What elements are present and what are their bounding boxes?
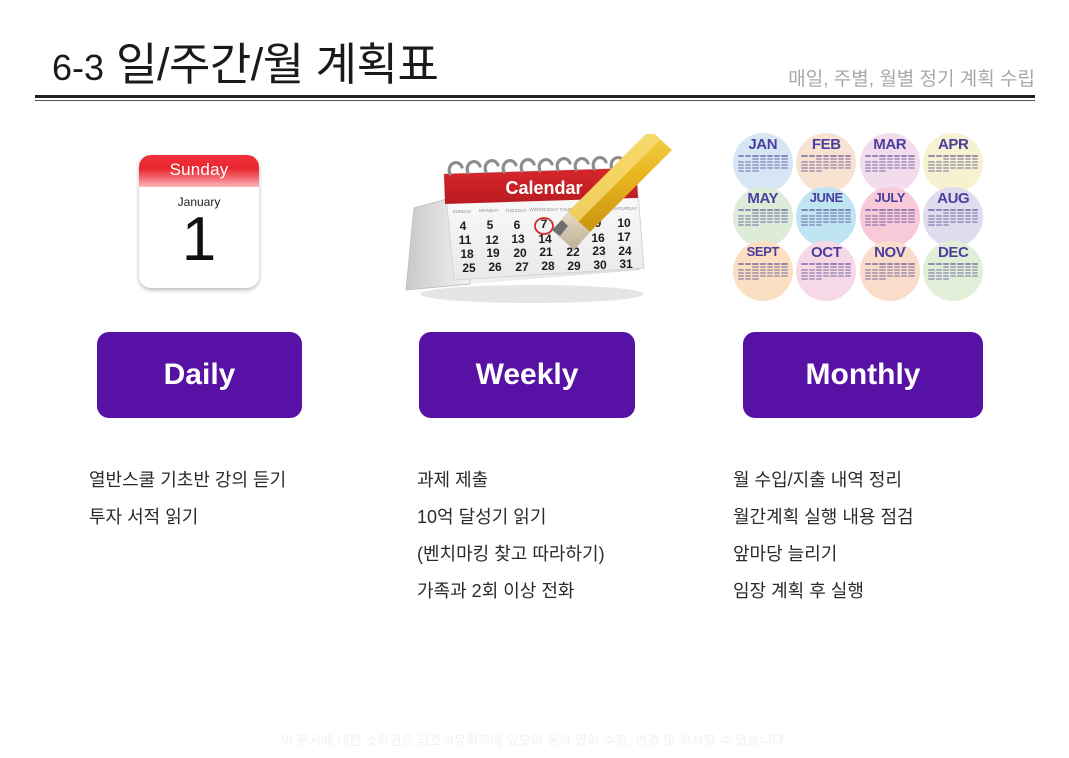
task-list-monthly: 월 수입/지출 내역 정리월간계획 실행 내용 점검앞마당 늘리기임장 계획 후…: [733, 462, 914, 610]
desk-calendar-title: Calendar: [505, 178, 582, 198]
svg-text:SATURDAY: SATURDAY: [613, 206, 637, 211]
svg-text:21: 21: [539, 245, 553, 259]
task-item: 과제 제출: [417, 462, 605, 499]
task-item: 임장 계획 후 실행: [733, 573, 914, 610]
svg-text:12: 12: [485, 233, 499, 247]
month-circle-apr: APR: [923, 133, 983, 193]
svg-text:26: 26: [488, 260, 502, 274]
month-mini-grid: [738, 209, 788, 226]
month-circle-may: MAY: [733, 187, 793, 247]
monthly-artwork: JANFEBMARAPRMAYJUNEJULYAUGSEPTOCTNOVDEC: [700, 130, 1020, 305]
month-mini-grid: [928, 209, 978, 226]
task-list-daily: 열반스쿨 기초반 강의 듣기투자 서적 읽기: [89, 462, 286, 536]
month-circle-label: JAN: [733, 136, 793, 153]
month-mini-grid: [801, 155, 851, 172]
daily-artwork: Sunday January 1: [42, 130, 362, 305]
svg-text:13: 13: [511, 232, 525, 246]
month-mini-grid: [801, 263, 851, 280]
svg-text:18: 18: [460, 247, 474, 261]
svg-text:4: 4: [460, 219, 467, 233]
label-button-monthly[interactable]: Monthly: [743, 332, 983, 418]
month-circle-label: OCT: [796, 244, 856, 261]
svg-text:WEDNESDAY: WEDNESDAY: [529, 207, 558, 212]
month-circle-oct: OCT: [796, 241, 856, 301]
page-title-text: 일/주간/월 계획표: [116, 39, 438, 90]
svg-text:16: 16: [591, 231, 605, 245]
day-tile-icon: Sunday January 1: [139, 155, 259, 288]
month-circle-label: SEPT: [733, 244, 793, 259]
month-circle-label: JULY: [860, 190, 920, 205]
task-item: 앞마당 늘리기: [733, 536, 914, 573]
page-title: 6-3 일/주간/월 계획표: [52, 28, 438, 93]
slide-header: 6-3 일/주간/월 계획표 매일, 주별, 월별 정기 계획 수립: [0, 0, 1069, 110]
month-mini-grid: [928, 263, 978, 280]
task-item: 열반스쿨 기초반 강의 듣기: [89, 462, 286, 499]
month-circle-june: JUNE: [796, 187, 856, 247]
page-title-number: 6-3: [52, 47, 104, 88]
svg-text:6: 6: [514, 218, 521, 232]
month-circle-mar: MAR: [860, 133, 920, 193]
svg-text:MONDAY: MONDAY: [479, 208, 499, 213]
month-circle-label: JUNE: [796, 190, 856, 205]
month-circle-label: MAY: [733, 190, 793, 207]
page-subtitle: 매일, 주별, 월별 정기 계획 수립: [788, 64, 1035, 91]
month-circle-label: MAR: [860, 136, 920, 153]
month-circle-sept: SEPT: [733, 241, 793, 301]
month-mini-grid: [865, 155, 915, 172]
month-circle-label: AUG: [923, 190, 983, 207]
svg-text:5: 5: [487, 218, 494, 232]
task-item: 가족과 2회 이상 전화: [417, 573, 605, 610]
svg-text:31: 31: [619, 257, 633, 271]
svg-text:20: 20: [513, 246, 527, 260]
svg-text:TUESDAY: TUESDAY: [505, 208, 526, 213]
month-mini-grid: [738, 155, 788, 172]
footer-notice: 이 문서에 대한 소유권은 금호석유화학에 있으며 동의 없이 수정, 변경 및…: [0, 730, 1069, 749]
day-tile-weekday: Sunday: [139, 155, 259, 187]
month-circles-grid: JANFEBMARAPRMAYJUNEJULYAUGSEPTOCTNOVDEC: [732, 136, 984, 298]
task-item: 월 수입/지출 내역 정리: [733, 462, 914, 499]
column-monthly: JANFEBMARAPRMAYJUNEJULYAUGSEPTOCTNOVDEC: [700, 130, 1020, 305]
month-mini-grid: [738, 263, 788, 280]
label-button-weekly[interactable]: Weekly: [419, 332, 635, 418]
column-daily: Sunday January 1: [42, 130, 362, 305]
svg-text:19: 19: [486, 246, 500, 260]
svg-text:29: 29: [567, 259, 581, 273]
month-circle-dec: DEC: [923, 241, 983, 301]
svg-text:SUNDAY: SUNDAY: [453, 209, 472, 214]
month-circle-jan: JAN: [733, 133, 793, 193]
day-tile-number: 1: [139, 207, 259, 273]
task-item: 10억 달성기 읽기: [417, 499, 605, 536]
task-item: 월간계획 실행 내용 점검: [733, 499, 914, 536]
svg-text:27: 27: [515, 260, 529, 274]
task-list-weekly: 과제 제출10억 달성기 읽기(벤치마킹 찾고 따라하기)가족과 2회 이상 전…: [417, 462, 605, 610]
svg-text:28: 28: [541, 259, 555, 273]
month-mini-grid: [928, 155, 978, 172]
month-circle-label: APR: [923, 136, 983, 153]
svg-text:30: 30: [593, 258, 607, 272]
month-mini-grid: [801, 209, 851, 226]
svg-text:11: 11: [459, 233, 472, 247]
month-circle-feb: FEB: [796, 133, 856, 193]
svg-text:10: 10: [617, 216, 631, 230]
weekly-artwork: Calendar SUNDAY MONDAY: [370, 130, 690, 305]
month-circle-label: NOV: [860, 244, 920, 261]
month-mini-grid: [865, 209, 915, 226]
month-circle-aug: AUG: [923, 187, 983, 247]
desk-calendar-icon: Calendar SUNDAY MONDAY: [392, 134, 672, 306]
month-mini-grid: [865, 263, 915, 280]
label-button-daily[interactable]: Daily: [97, 332, 302, 418]
header-rule-thin: [35, 100, 1035, 101]
header-rule-thick: [35, 95, 1035, 98]
task-item: (벤치마킹 찾고 따라하기): [417, 536, 605, 573]
svg-text:17: 17: [617, 230, 631, 244]
month-circle-nov: NOV: [860, 241, 920, 301]
task-item: 투자 서적 읽기: [89, 499, 286, 536]
month-circle-july: JULY: [860, 187, 920, 247]
svg-text:24: 24: [618, 244, 632, 258]
month-circle-label: FEB: [796, 136, 856, 153]
month-circle-label: DEC: [923, 244, 983, 261]
column-weekly: Calendar SUNDAY MONDAY: [370, 130, 690, 305]
svg-text:23: 23: [592, 244, 606, 258]
svg-text:25: 25: [462, 261, 476, 275]
